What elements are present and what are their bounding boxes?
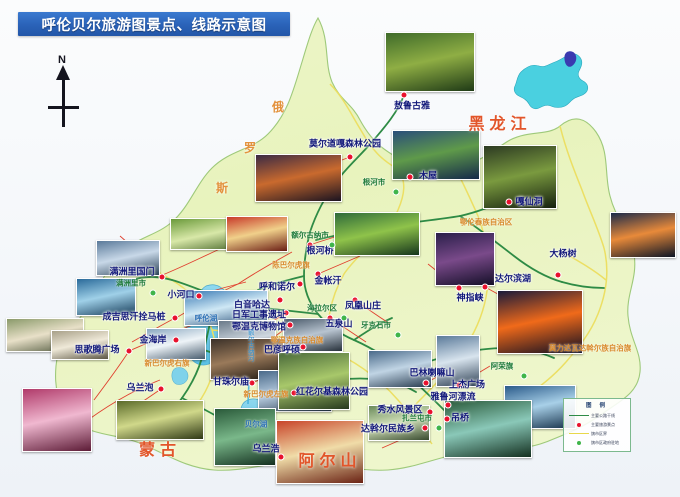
- scenic-dot-14[interactable]: [288, 323, 293, 328]
- label-scenic-16[interactable]: 满洲里国门: [109, 269, 154, 278]
- photo-image: [445, 401, 531, 457]
- label-scenic-10[interactable]: 凤凰山庄: [345, 303, 381, 312]
- legend-item-label-3: 旗市区政府驻地: [591, 440, 619, 446]
- scenic-dot-2[interactable]: [408, 175, 413, 180]
- xiushui-photo: [278, 352, 350, 410]
- legend-item-label-1: 主要旅游景点: [591, 422, 615, 428]
- red-dot-icon: [567, 423, 591, 427]
- label-scenic-22[interactable]: 甘珠尔庙: [213, 379, 249, 388]
- label-scenic-0[interactable]: 敖鲁古雅: [394, 103, 430, 112]
- label-scenic-1[interactable]: 莫尔道嘎森林公园: [309, 141, 381, 150]
- label-scenic-26[interactable]: 雅鲁河漂流: [430, 394, 475, 403]
- yurt-photo: [116, 400, 204, 440]
- label-scenic-20[interactable]: 思歌腾广场: [74, 347, 119, 356]
- label-scenic-25[interactable]: 上杰广场: [449, 382, 485, 391]
- city-dot-0[interactable]: [151, 291, 156, 296]
- photo-image: [335, 213, 419, 255]
- city-dot-3[interactable]: [342, 316, 347, 321]
- balin-photo: [436, 335, 480, 387]
- scenic-dot-1[interactable]: [348, 155, 353, 160]
- compass-rose: N: [44, 54, 88, 130]
- scenic-dot-17[interactable]: [197, 294, 202, 299]
- photo-image: [436, 233, 494, 285]
- label-admin-5[interactable]: 扎兰屯市: [402, 414, 432, 422]
- label-admin-2[interactable]: 额尔古纳市: [291, 231, 329, 239]
- scenic-dot-28[interactable]: [445, 417, 450, 422]
- legend-item-0: 主要公路干线: [567, 411, 627, 420]
- scenic-dot-29[interactable]: [423, 426, 428, 431]
- label-scenic-23[interactable]: 红花尔基森林公园: [296, 389, 368, 398]
- compass-crossbar: [48, 106, 79, 109]
- china-outline: [514, 54, 588, 109]
- label-scenic-17[interactable]: 小河口: [167, 292, 194, 301]
- label-admin-0[interactable]: 满洲里市: [116, 279, 146, 287]
- genhe-photo: [334, 212, 420, 256]
- label-scenic-28[interactable]: 吊桥: [451, 415, 469, 424]
- city-dot-1[interactable]: [394, 190, 399, 195]
- scenic-dot-4[interactable]: [556, 273, 561, 278]
- photo-image: [23, 389, 91, 451]
- label-scenic-7[interactable]: 根河桥: [306, 248, 333, 257]
- city-dot-4[interactable]: [396, 333, 401, 338]
- green-dot-icon: [567, 441, 591, 445]
- label-scenic-2[interactable]: 木屋: [419, 173, 437, 182]
- scenic-dot-3[interactable]: [507, 200, 512, 205]
- label-russia-1: 俄: [272, 101, 284, 113]
- scenic-dot-30[interactable]: [279, 455, 284, 460]
- small-lake: [172, 367, 188, 384]
- honghuaerji-photo: [214, 408, 276, 466]
- scenic-dot-5[interactable]: [483, 285, 488, 290]
- label-scenic-19[interactable]: 金海岸: [139, 337, 166, 346]
- scenic-dot-9[interactable]: [298, 282, 303, 287]
- zhalantun-photo: [444, 400, 532, 458]
- label-scenic-5[interactable]: 达尔滨湖: [495, 276, 531, 285]
- scenic-dot-6[interactable]: [457, 286, 462, 291]
- city-dot-2[interactable]: [330, 243, 335, 248]
- label-admin-8[interactable]: 新巴尔虎右旗: [145, 359, 190, 367]
- label-scenic-4[interactable]: 大杨树: [549, 251, 576, 260]
- legend-title: 图 例: [567, 401, 627, 409]
- label-scenic-6[interactable]: 神指峡: [456, 295, 483, 304]
- photo-image: [227, 217, 287, 251]
- label-admin-7[interactable]: 陈巴尔虎旗: [272, 261, 310, 269]
- photo-image: [611, 213, 675, 257]
- naadam-photo: [226, 216, 288, 252]
- scenic-dot-20[interactable]: [127, 349, 132, 354]
- legend-item-2: 旗市区界: [567, 429, 627, 438]
- label-admin-11[interactable]: 鄂伦春族自治区: [460, 218, 513, 226]
- compass-needle: [62, 71, 65, 127]
- label-heilongjiang: 黑龙江: [468, 116, 531, 132]
- shenzhixia-photo: [435, 232, 495, 286]
- label-russia-3: 斯: [216, 182, 228, 194]
- label-russia-2: 罗: [244, 142, 256, 154]
- photo-image: [117, 401, 203, 439]
- label-scenic-21[interactable]: 乌兰泡: [126, 385, 153, 394]
- photo-image: [437, 336, 479, 386]
- label-admin-12[interactable]: 莫力达瓦达斡尔族自治旗: [549, 344, 632, 352]
- label-mongolia: 蒙古: [139, 442, 181, 458]
- label-scenic-12[interactable]: 白音哈达: [234, 302, 270, 311]
- scenic-dot-21[interactable]: [159, 387, 164, 392]
- scenic-dot-16[interactable]: [160, 275, 165, 280]
- legend-item-3: 旗市区政府驻地: [567, 438, 627, 447]
- label-scenic-9[interactable]: 呼和诺尔: [259, 284, 295, 293]
- label-scenic-15[interactable]: 巴彦呼硕: [264, 347, 300, 356]
- label-admin-9[interactable]: 新巴尔虎左旗: [244, 390, 289, 398]
- label-admin-4[interactable]: 牙克石市: [361, 321, 391, 329]
- scenic-dot-24[interactable]: [424, 381, 429, 386]
- map-legend: 图 例 主要公路干线主要旅游景点旗市区界旗市区政府驻地: [563, 398, 631, 452]
- scenic-dot-12[interactable]: [278, 298, 283, 303]
- tourist-map-page: 呼伦贝尔旅游图景点、线路示意图 N 敖鲁古雅莫尔道嘎森林公园木屋嘎仙洞大杨树达尔…: [0, 0, 680, 497]
- label-scenic-14[interactable]: 鄂温克博物馆: [232, 324, 286, 333]
- photo-image: [279, 353, 349, 409]
- label-admin-3[interactable]: 海拉尔区: [307, 304, 337, 312]
- label-admin-6[interactable]: 阿荣旗: [491, 362, 514, 370]
- scenic-dot-15[interactable]: [301, 345, 306, 350]
- label-scenic-29[interactable]: 达斡尔民族乡: [361, 426, 415, 435]
- green-line-icon: [567, 415, 591, 417]
- label-scenic-11[interactable]: 五泉山: [325, 321, 352, 330]
- page-title: 呼伦贝尔旅游图景点、线路示意图: [42, 14, 267, 35]
- scenic-dot-0[interactable]: [402, 93, 407, 98]
- legend-item-label-2: 旗市区界: [591, 431, 607, 437]
- china-inset-map: [505, 42, 597, 120]
- moerdaoga-photo: [255, 154, 342, 202]
- label-ergun-river: 额尔古纳河: [247, 329, 254, 362]
- photo-image: [256, 155, 341, 201]
- aoluguya-photo: [385, 32, 475, 92]
- legend-item-1: 主要旅游景点: [567, 420, 627, 429]
- city-dot-6[interactable]: [522, 374, 527, 379]
- scenic-dot-26[interactable]: [446, 403, 451, 408]
- label-admin-10[interactable]: 鄂温克族自治旗: [271, 336, 324, 344]
- sunset-photo: [610, 212, 676, 258]
- label-scenic-3[interactable]: 嘎仙洞: [515, 199, 542, 208]
- label-scenic-30[interactable]: 乌兰浩: [252, 446, 279, 455]
- wulanpao-photo: [22, 388, 92, 452]
- yellow-line-icon: [567, 433, 591, 435]
- label-scenic-13[interactable]: 日军工事遗址: [232, 312, 286, 321]
- city-dot-5[interactable]: [437, 426, 442, 431]
- label-beier-lake: 贝尔湖: [245, 420, 268, 428]
- scenic-dot-18[interactable]: [173, 316, 178, 321]
- label-arxan: 阿尔山: [298, 453, 361, 469]
- photo-image: [386, 33, 474, 91]
- scenic-dot-19[interactable]: [174, 338, 179, 343]
- photo-image: [215, 409, 275, 465]
- scenic-dot-22[interactable]: [250, 381, 255, 386]
- label-hulun-lake: 呼伦湖: [195, 314, 218, 322]
- label-scenic-24[interactable]: 巴林喇嘛山: [409, 370, 454, 379]
- label-admin-1[interactable]: 根河市: [363, 178, 386, 186]
- legend-item-label-0: 主要公路干线: [591, 413, 615, 419]
- label-scenic-8[interactable]: 金帐汗: [314, 278, 341, 287]
- legend-rows: 主要公路干线主要旅游景点旗市区界旗市区政府驻地: [567, 411, 627, 447]
- label-scenic-18[interactable]: 成吉思汗拴马桩: [102, 314, 165, 323]
- map-title-banner: 呼伦贝尔旅游图景点、线路示意图: [18, 12, 290, 36]
